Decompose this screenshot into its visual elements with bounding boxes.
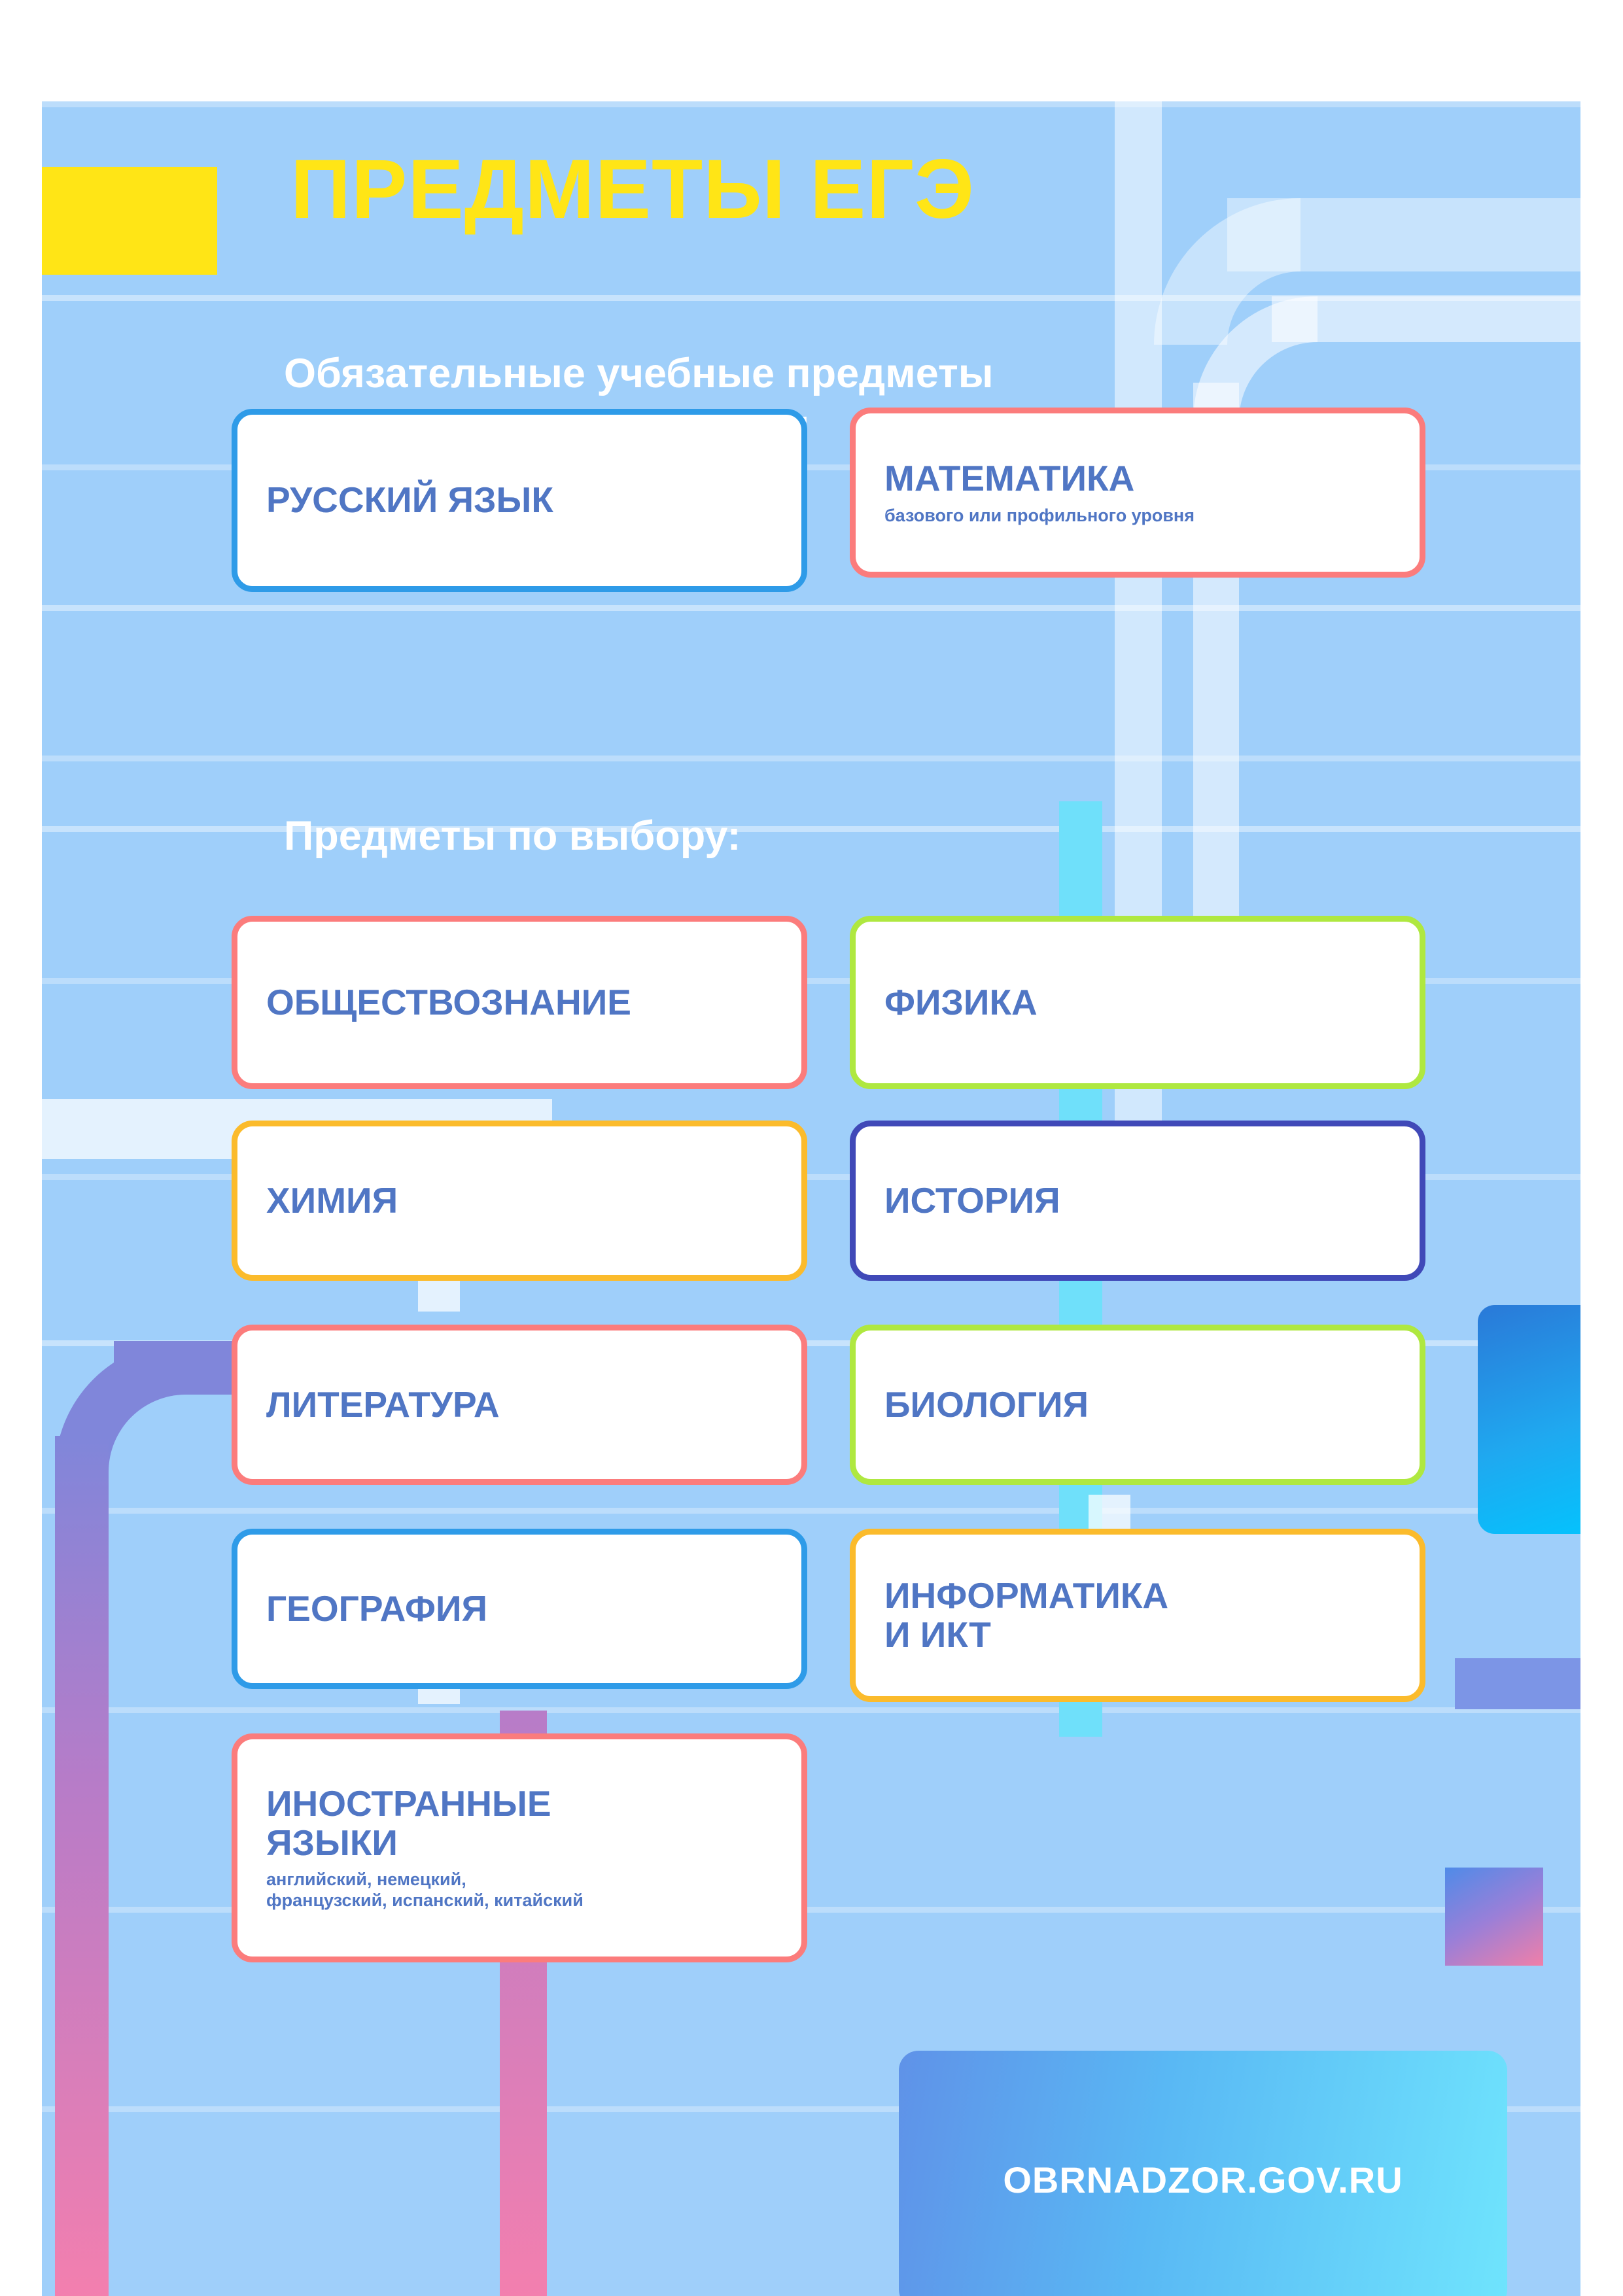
subject-card-foreign-languages[interactable]: ИНОСТРАННЫЕ ЯЗЫКИ английский, немецкий, … [232, 1733, 807, 1962]
footer-url-panel[interactable]: OBRNADZOR.GOV.RU [899, 2051, 1507, 2296]
decor-gradient-box-pink [1445, 1868, 1543, 1966]
subject-card-informatics[interactable]: ИНФОРМАТИКА И ИКТ [850, 1529, 1425, 1702]
subject-card-title: ХИМИЯ [266, 1181, 773, 1220]
subject-card-title: ФИЗИКА [884, 983, 1391, 1022]
decor-bar-periwinkle [1455, 1658, 1580, 1709]
page-title: ПРЕДМЕТЫ ЕГЭ [290, 146, 975, 234]
subject-card-title: ИНОСТРАННЫЕ ЯЗЫКИ [266, 1784, 773, 1862]
subject-card-title: БИОЛОГИЯ [884, 1385, 1391, 1424]
subject-card-title: РУССКИЙ ЯЗЫК [266, 481, 773, 519]
subject-card-history[interactable]: ИСТОРИЯ [850, 1121, 1425, 1281]
subject-card-chemistry[interactable]: ХИМИЯ [232, 1121, 807, 1281]
subject-card-social-studies[interactable]: ОБЩЕСТВОЗНАНИЕ [232, 916, 807, 1089]
subject-card-geography[interactable]: ГЕОГРАФИЯ [232, 1529, 807, 1689]
subject-card-biology[interactable]: БИОЛОГИЯ [850, 1325, 1425, 1485]
pipe-elbow-inner-arm [1272, 296, 1580, 342]
pipe-purple-stem [55, 1436, 109, 2296]
subject-card-russian[interactable]: РУССКИЙ ЯЗЫК [232, 409, 807, 592]
subject-card-title: ИНФОРМАТИКА И ИКТ [884, 1576, 1391, 1654]
subject-card-subtitle: английский, немецкий, французский, испан… [266, 1869, 773, 1911]
grid-line [42, 1508, 1580, 1514]
subject-card-physics[interactable]: ФИЗИКА [850, 916, 1425, 1089]
subject-card-title: ИСТОРИЯ [884, 1181, 1391, 1220]
grid-line [42, 756, 1580, 761]
title-accent-block [42, 167, 217, 275]
grid-line [42, 101, 1580, 107]
decor-gradient-box-blue [1478, 1305, 1580, 1534]
subject-card-math[interactable]: МАТЕМАТИКА базового или профильного уров… [850, 408, 1425, 578]
subject-card-title: ГЕОГРАФИЯ [266, 1590, 773, 1628]
section-heading-optional: Предметы по выбору: [284, 811, 741, 861]
subject-card-title: ОБЩЕСТВОЗНАНИЕ [266, 983, 773, 1022]
subject-card-title: МАТЕМАТИКА [884, 459, 1391, 498]
subject-card-subtitle: базового или профильного уровня [884, 505, 1391, 526]
grid-line [42, 826, 1580, 832]
grid-line [42, 605, 1580, 611]
subject-card-literature[interactable]: ЛИТЕРАТУРА [232, 1325, 807, 1485]
grid-line [42, 1707, 1580, 1713]
poster-canvas: ПРЕДМЕТЫ ЕГЭ Обязательные учебные предме… [42, 101, 1580, 2296]
footer-url-text: OBRNADZOR.GOV.RU [1003, 2159, 1403, 2201]
subject-card-title: ЛИТЕРАТУРА [266, 1385, 773, 1424]
